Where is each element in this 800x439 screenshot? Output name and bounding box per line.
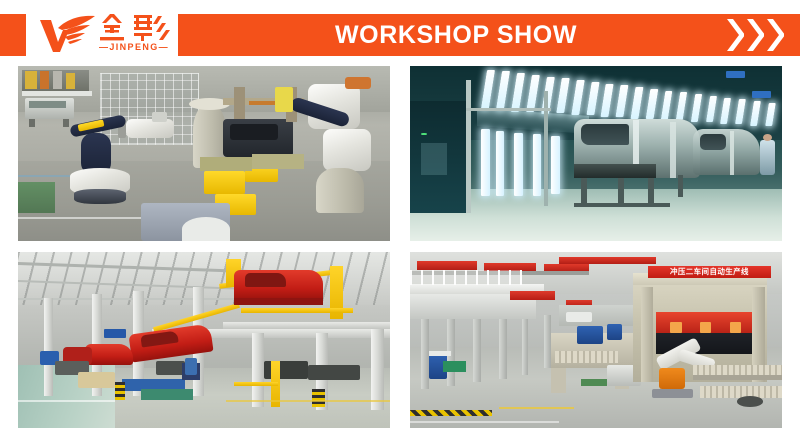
photo-vehicle-assembly-line[interactable] (18, 252, 390, 428)
banner-chevrons (726, 14, 784, 56)
chevron-right-icon (766, 19, 784, 51)
workshop-photo-gallery: 冲压二车间自动生产线 (18, 66, 782, 428)
brand-logo[interactable]: —JINPENG— (38, 12, 172, 58)
photo-stamping-workshop[interactable]: 冲压二车间自动生产线 (410, 252, 782, 428)
paint-inspection-scene (410, 66, 782, 241)
jinpeng-wing-v-mark-icon (38, 14, 96, 54)
brand-chinese-wordmark (96, 12, 172, 44)
chevron-right-icon (746, 19, 764, 51)
chevron-right-icon (726, 19, 744, 51)
banner-title: WORKSHOP SHOW (178, 14, 734, 56)
photo-robotic-welding-cell[interactable] (18, 66, 390, 241)
stamping-workshop-scene: 冲压二车间自动生产线 (410, 252, 782, 428)
photo-paint-inspection-tunnel[interactable] (410, 66, 782, 241)
stamping-line-caption: 冲压二车间自动生产线 (648, 266, 771, 278)
workshop-show-banner: WORKSHOP SHOW (178, 14, 800, 56)
brand-latin-wordmark: —JINPENG— (94, 42, 174, 52)
header-accent-block (0, 14, 26, 56)
assembly-line-scene (18, 252, 390, 428)
robotic-welding-scene (18, 66, 390, 241)
page-header: —JINPENG— WORKSHOP SHOW (0, 0, 800, 66)
